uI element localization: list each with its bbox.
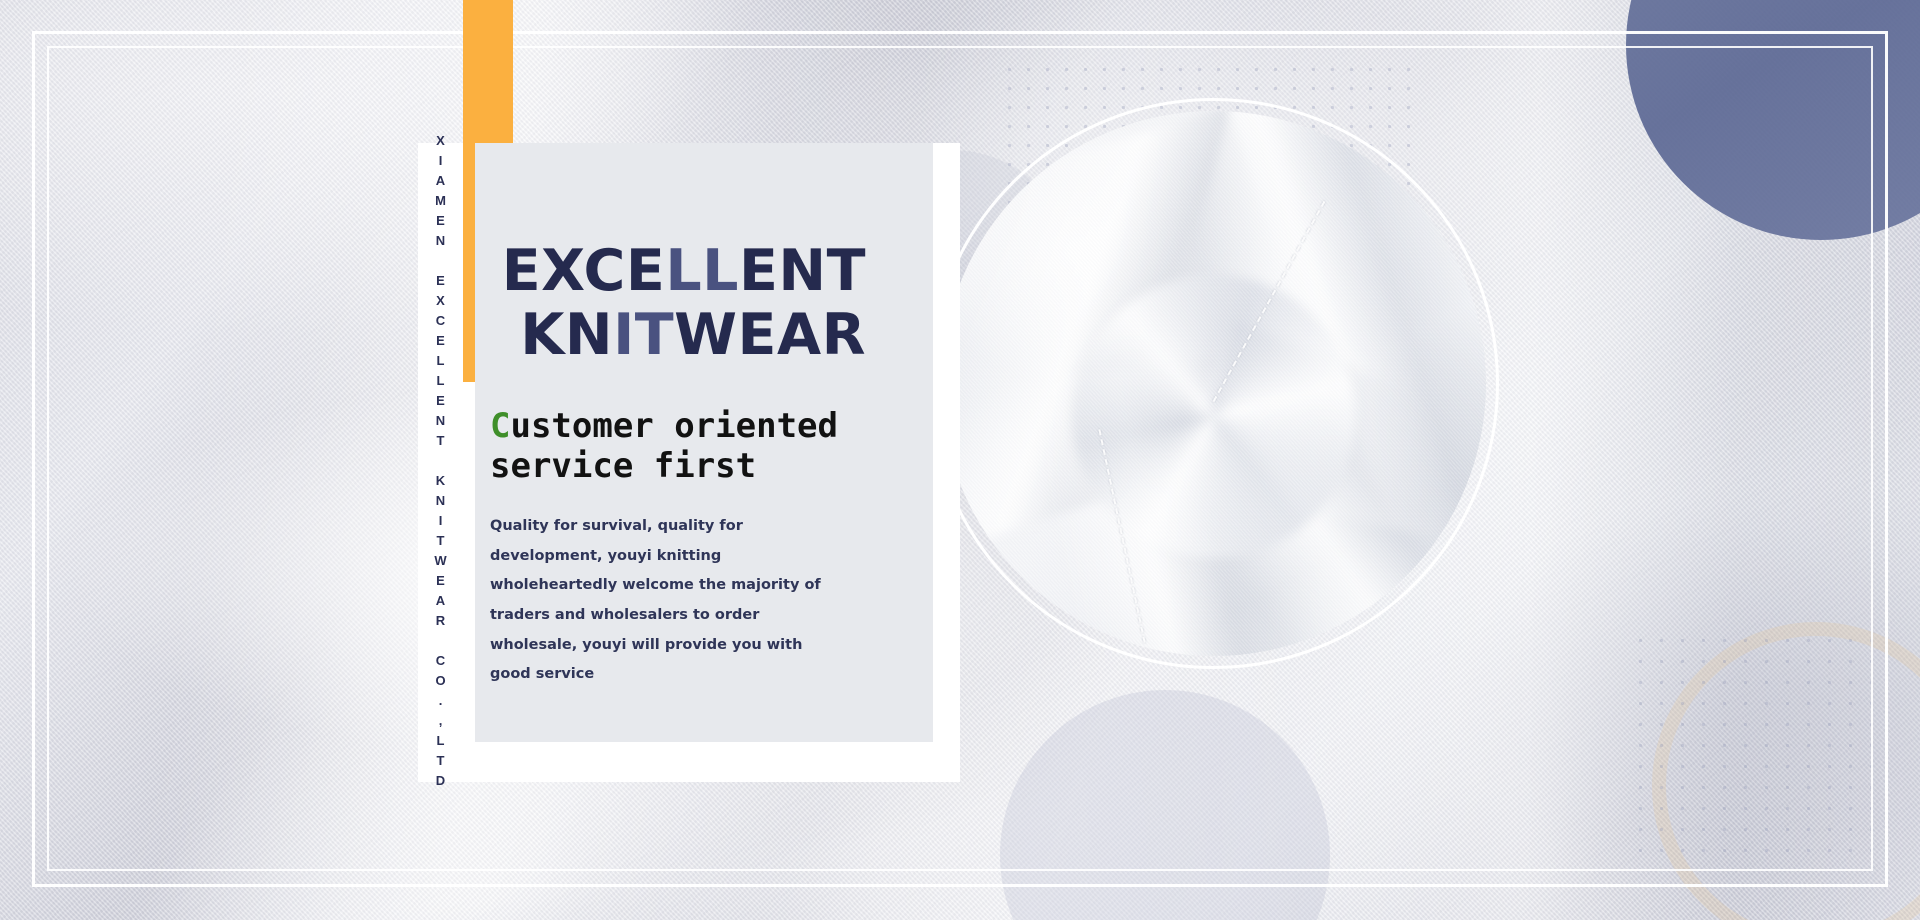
headline-line-1: EXCELLENT <box>484 240 866 304</box>
tagline: Customer oriented service first <box>490 406 870 486</box>
tagline-line-2: service first <box>490 446 870 486</box>
tagline-line-1-text: ustomer oriented <box>510 406 838 446</box>
headline-l2-part-b: IT <box>613 302 674 368</box>
headline-l2-part-c: WEAR <box>674 302 866 368</box>
headline-line-2: KNITWEAR <box>484 304 866 368</box>
headline-l1-part-c: ENT <box>739 238 866 304</box>
headline-l2-part-a: KN <box>520 302 613 368</box>
headline-l1-part-a: EXCE <box>502 238 666 304</box>
decorative-frame-inner <box>47 46 1873 871</box>
body-paragraph: Quality for survival, quality for develo… <box>490 512 842 690</box>
tagline-accent-letter: C <box>490 406 510 446</box>
headline-l1-part-b: LL <box>665 238 739 304</box>
content-block: EXCELLENT KNITWEAR Customer oriented ser… <box>490 240 920 690</box>
brand-vertical-rail: XIAMEN EXCELLENT KNITWEAR CO.,LTD <box>418 143 463 782</box>
tagline-line-1: Customer oriented <box>490 406 870 446</box>
brand-vertical-text: XIAMEN EXCELLENT KNITWEAR CO.,LTD <box>434 133 447 793</box>
promo-banner: XIAMEN EXCELLENT KNITWEAR CO.,LTD EXCELL… <box>0 0 1920 920</box>
